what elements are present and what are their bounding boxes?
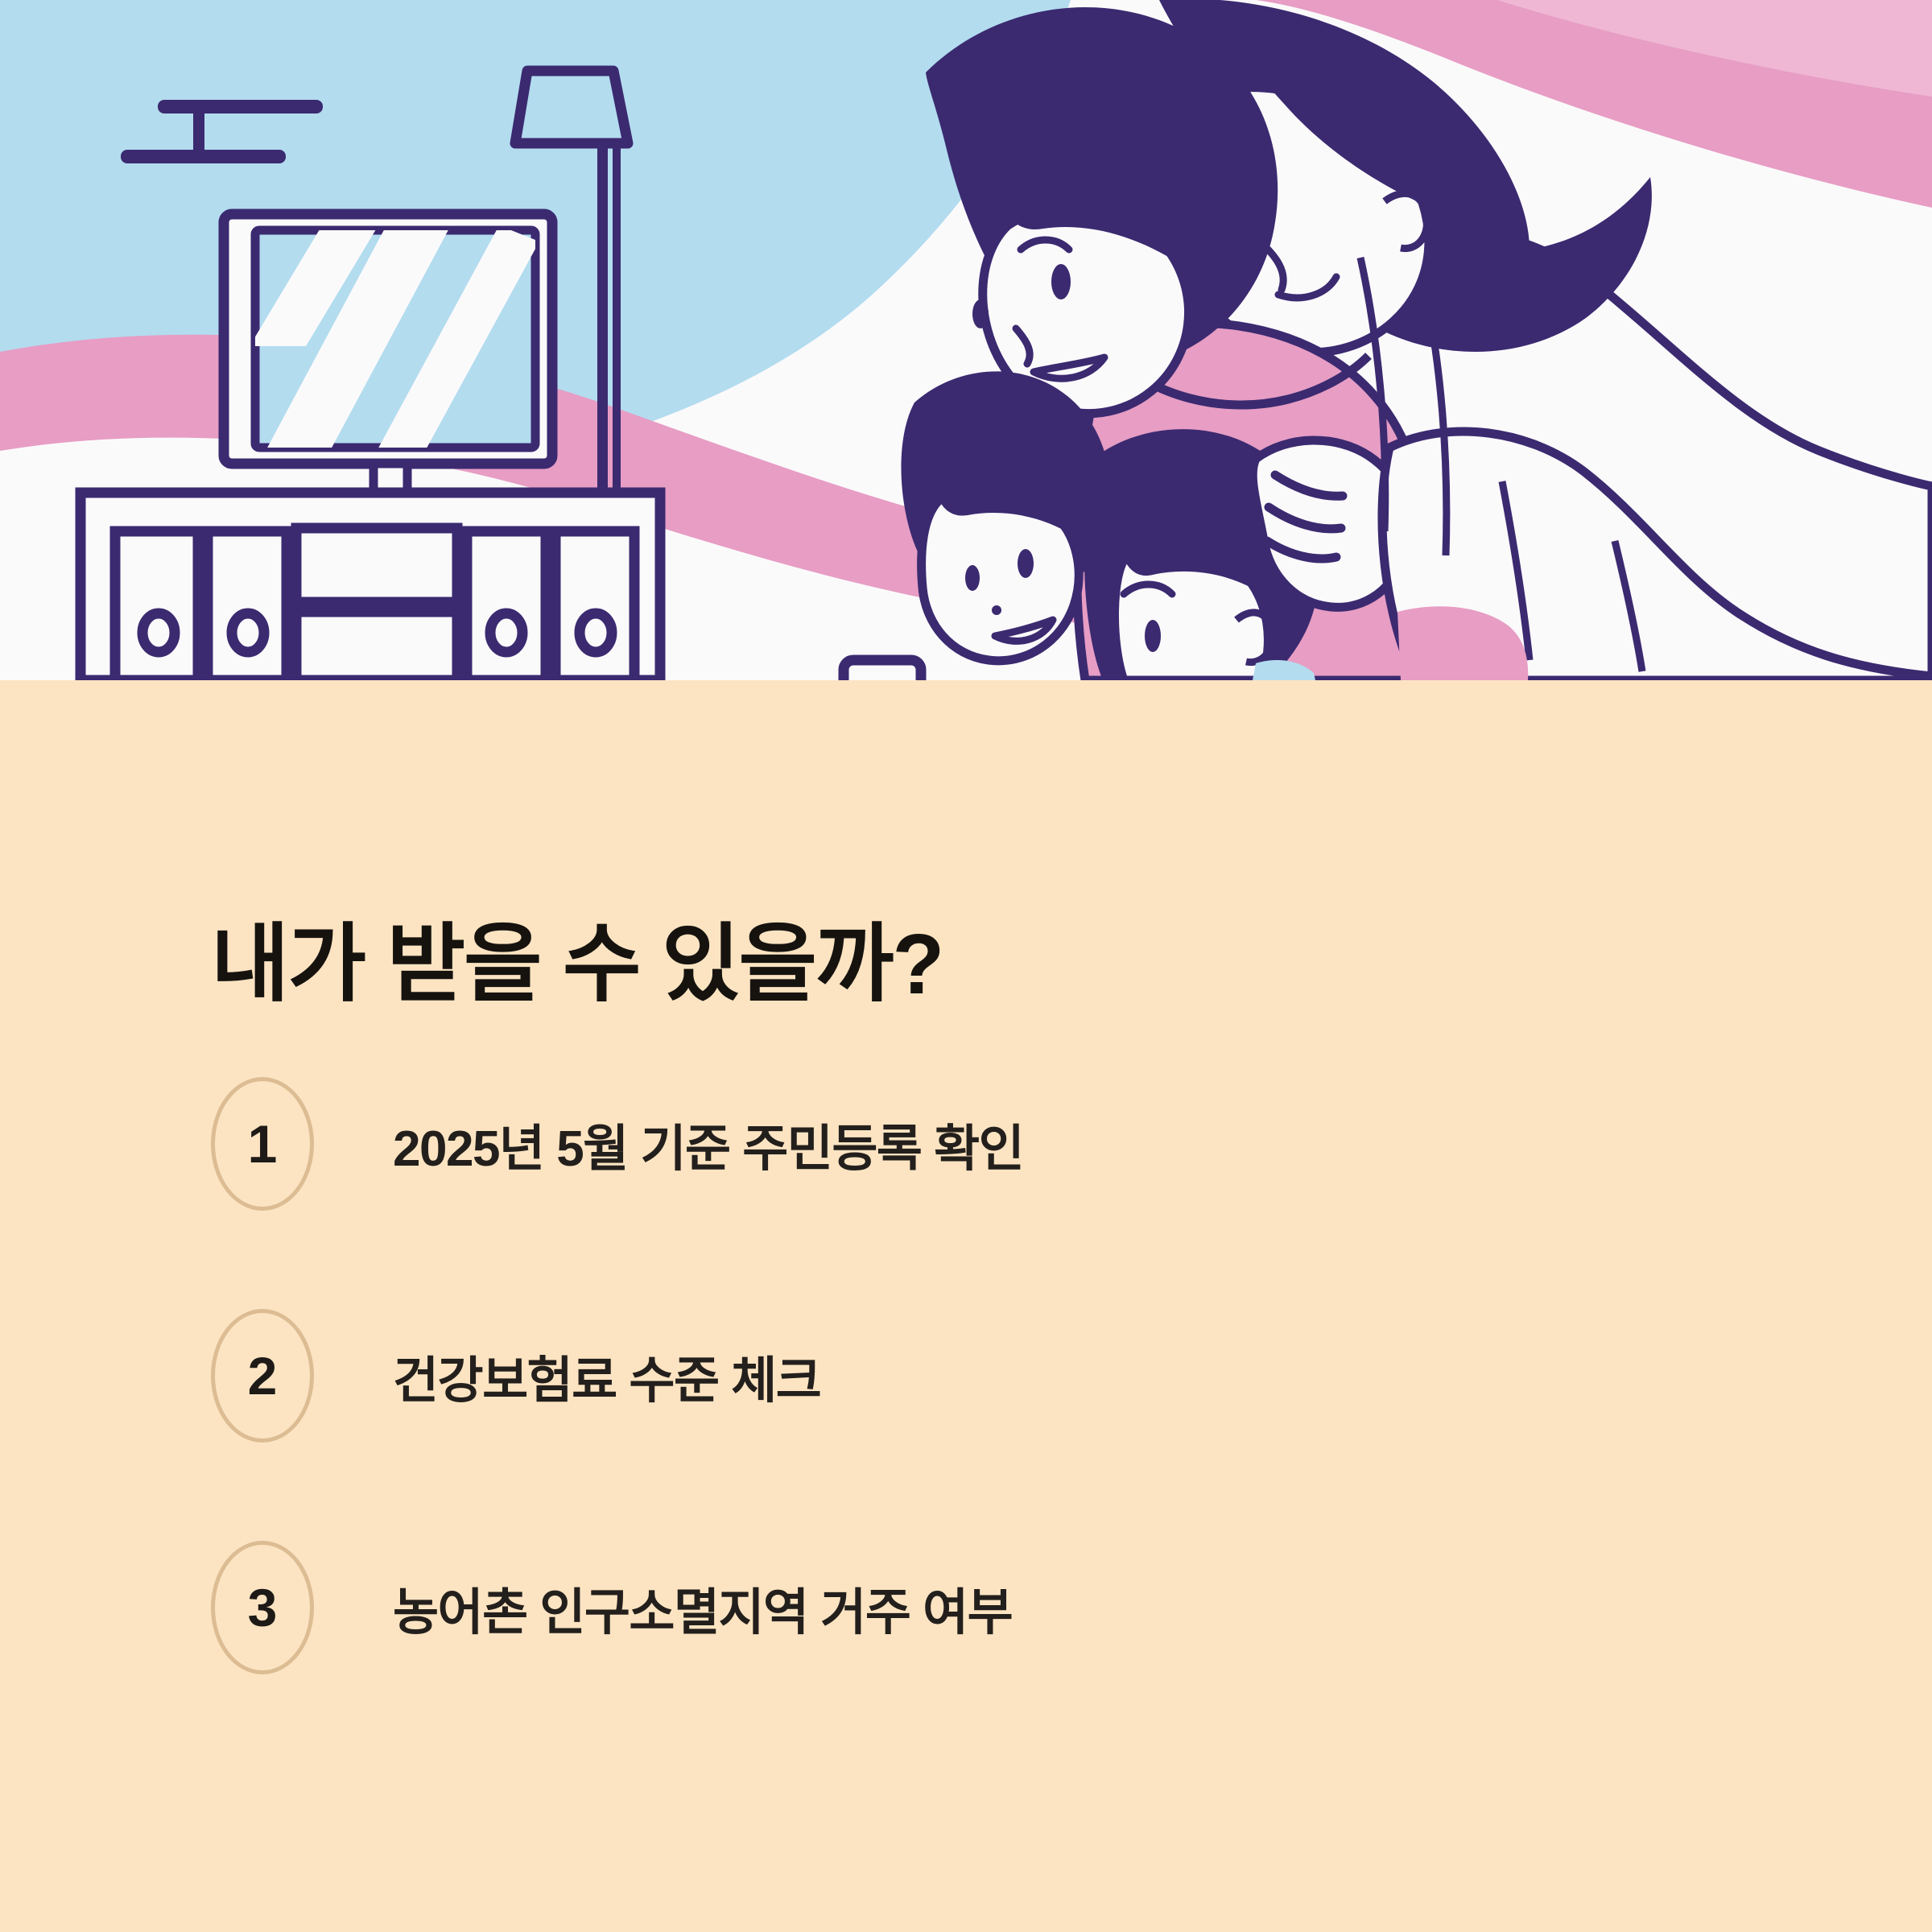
eligibility-checklist: 1 2025년 5월 기준 주민등록 확인 2 건강보험료 수준 체크 3 농어… bbox=[211, 1077, 1740, 1674]
checklist-number-badge-1: 1 bbox=[211, 1077, 314, 1211]
page-title: 내가 받을 수 있을까? bbox=[211, 922, 943, 1007]
checklist-item-2: 2 건강보험료 수준 체크 bbox=[211, 1309, 1740, 1443]
child-left-eye-right bbox=[1018, 549, 1034, 578]
infographic-card: 내가 받을 수 있을까? 1 2025년 5월 기준 주민등록 확인 2 건강보… bbox=[0, 0, 1932, 1932]
illustration-banner bbox=[0, 0, 1932, 680]
mother-eye-right bbox=[1051, 264, 1071, 299]
mother-eye-left bbox=[972, 299, 989, 328]
checklist-item-1: 1 2025년 5월 기준 주민등록 확인 bbox=[211, 1077, 1740, 1211]
checklist-label-2: 건강보험료 수준 체크 bbox=[393, 1340, 820, 1412]
checklist-number-badge-3: 3 bbox=[211, 1541, 314, 1674]
child-right-eye bbox=[1145, 620, 1161, 652]
content-panel: 내가 받을 수 있을까? 1 2025년 5월 기준 주민등록 확인 2 건강보… bbox=[0, 680, 1932, 1932]
child-left-eye-left bbox=[965, 565, 980, 591]
living-room-illustration bbox=[0, 0, 1932, 680]
television-icon bbox=[224, 214, 552, 494]
tablet-icon bbox=[844, 660, 921, 680]
checklist-label-3: 농어촌 인구소멸지역 거주 여부 bbox=[393, 1571, 1012, 1644]
checklist-item-3: 3 농어촌 인구소멸지역 거주 여부 bbox=[211, 1541, 1740, 1674]
checklist-label-1: 2025년 5월 기준 주민등록 확인 bbox=[393, 1108, 1023, 1180]
child-left-nose bbox=[992, 605, 1001, 615]
checklist-number-badge-2: 2 bbox=[211, 1309, 314, 1443]
